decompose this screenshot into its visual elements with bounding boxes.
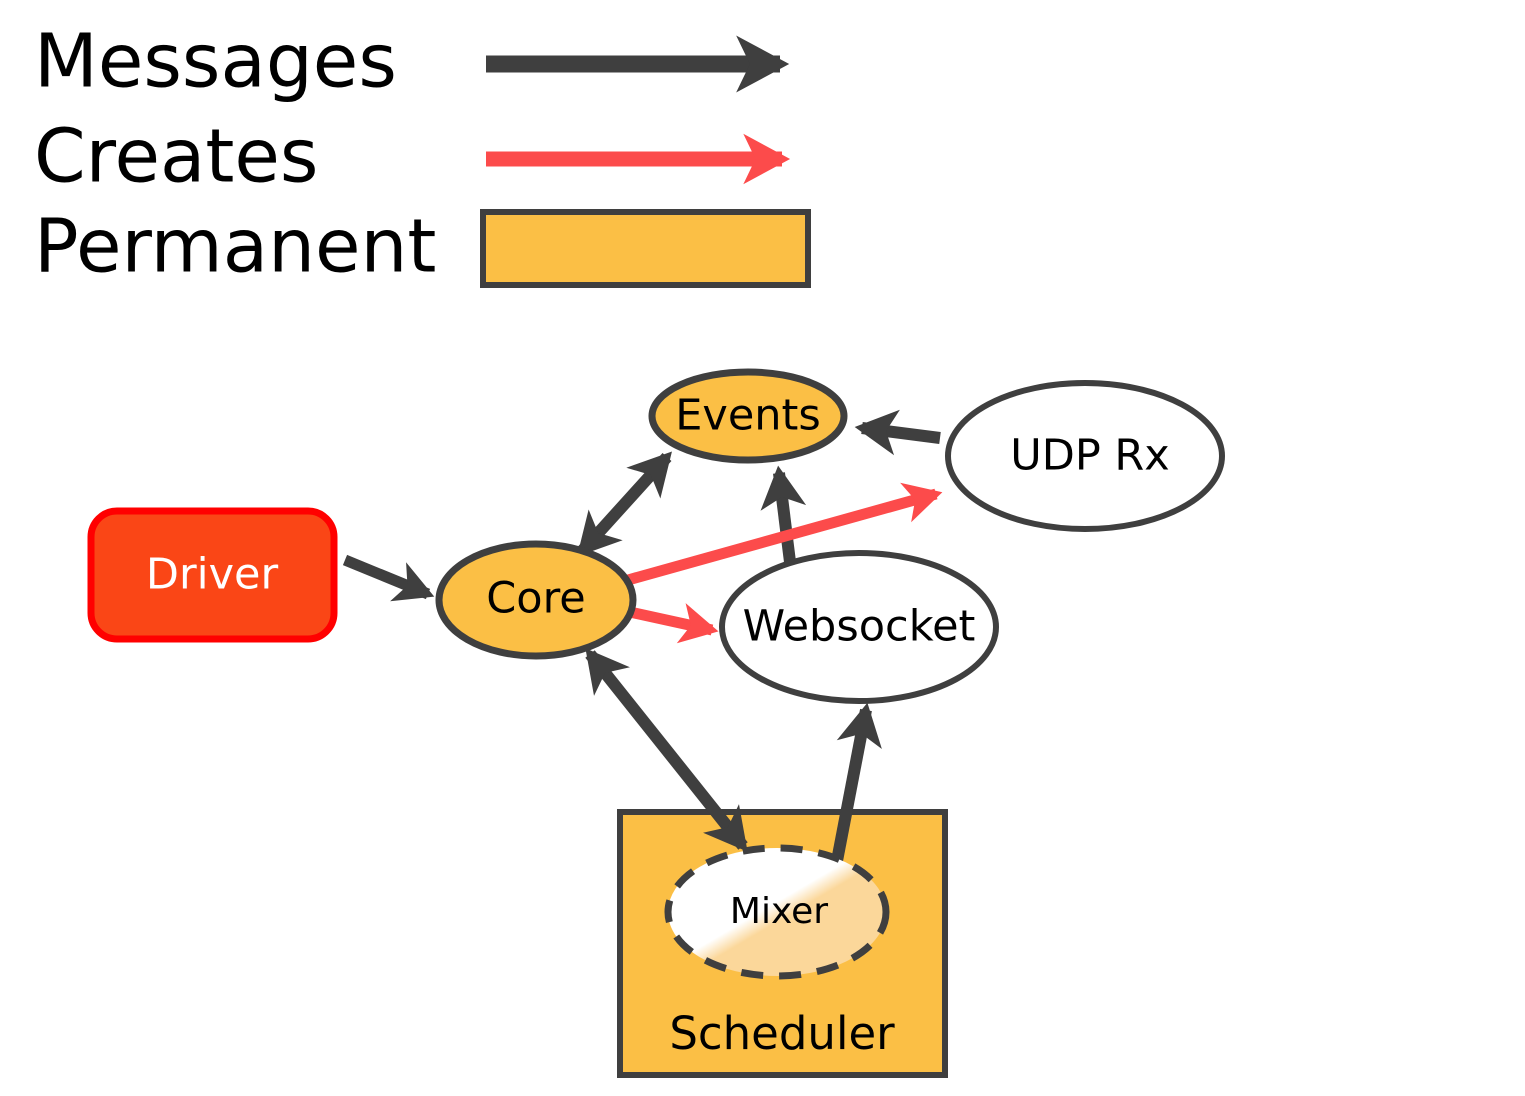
node-driver[interactable]: Driver	[91, 511, 334, 639]
events-label: Events	[675, 391, 821, 441]
node-mixer[interactable]: Mixer	[668, 848, 886, 976]
architecture-diagram: Messages Creates Permanent Scheduler	[0, 0, 1525, 1096]
edge-core-events-bidirectional	[582, 457, 667, 551]
legend-row-creates: Creates	[34, 114, 782, 200]
edge-core-creates-websocket	[630, 612, 712, 630]
legend-label-creates: Creates	[34, 114, 318, 200]
node-events[interactable]: Events	[652, 372, 844, 460]
legend-swatch-permanent	[483, 212, 808, 285]
driver-label: Driver	[146, 550, 279, 600]
mixer-label: Mixer	[730, 891, 828, 932]
node-udp-rx[interactable]: UDP Rx	[948, 383, 1222, 529]
legend-label-permanent: Permanent	[34, 204, 436, 290]
legend: Messages Creates Permanent	[34, 19, 808, 290]
legend-label-messages: Messages	[34, 19, 397, 105]
node-websocket[interactable]: Websocket	[722, 553, 996, 701]
udp-rx-label: UDP Rx	[1010, 431, 1170, 481]
node-core[interactable]: Core	[439, 544, 633, 656]
scheduler-label: Scheduler	[669, 1007, 895, 1060]
legend-row-permanent: Permanent	[34, 204, 808, 290]
core-label: Core	[486, 574, 586, 624]
legend-row-messages: Messages	[34, 19, 780, 105]
diagram-canvas: Messages Creates Permanent Scheduler	[0, 0, 1525, 1096]
websocket-label: Websocket	[743, 602, 976, 652]
edge-udprx-to-events	[862, 428, 940, 438]
edge-websocket-to-events	[779, 473, 790, 562]
edge-driver-to-core	[345, 560, 428, 594]
